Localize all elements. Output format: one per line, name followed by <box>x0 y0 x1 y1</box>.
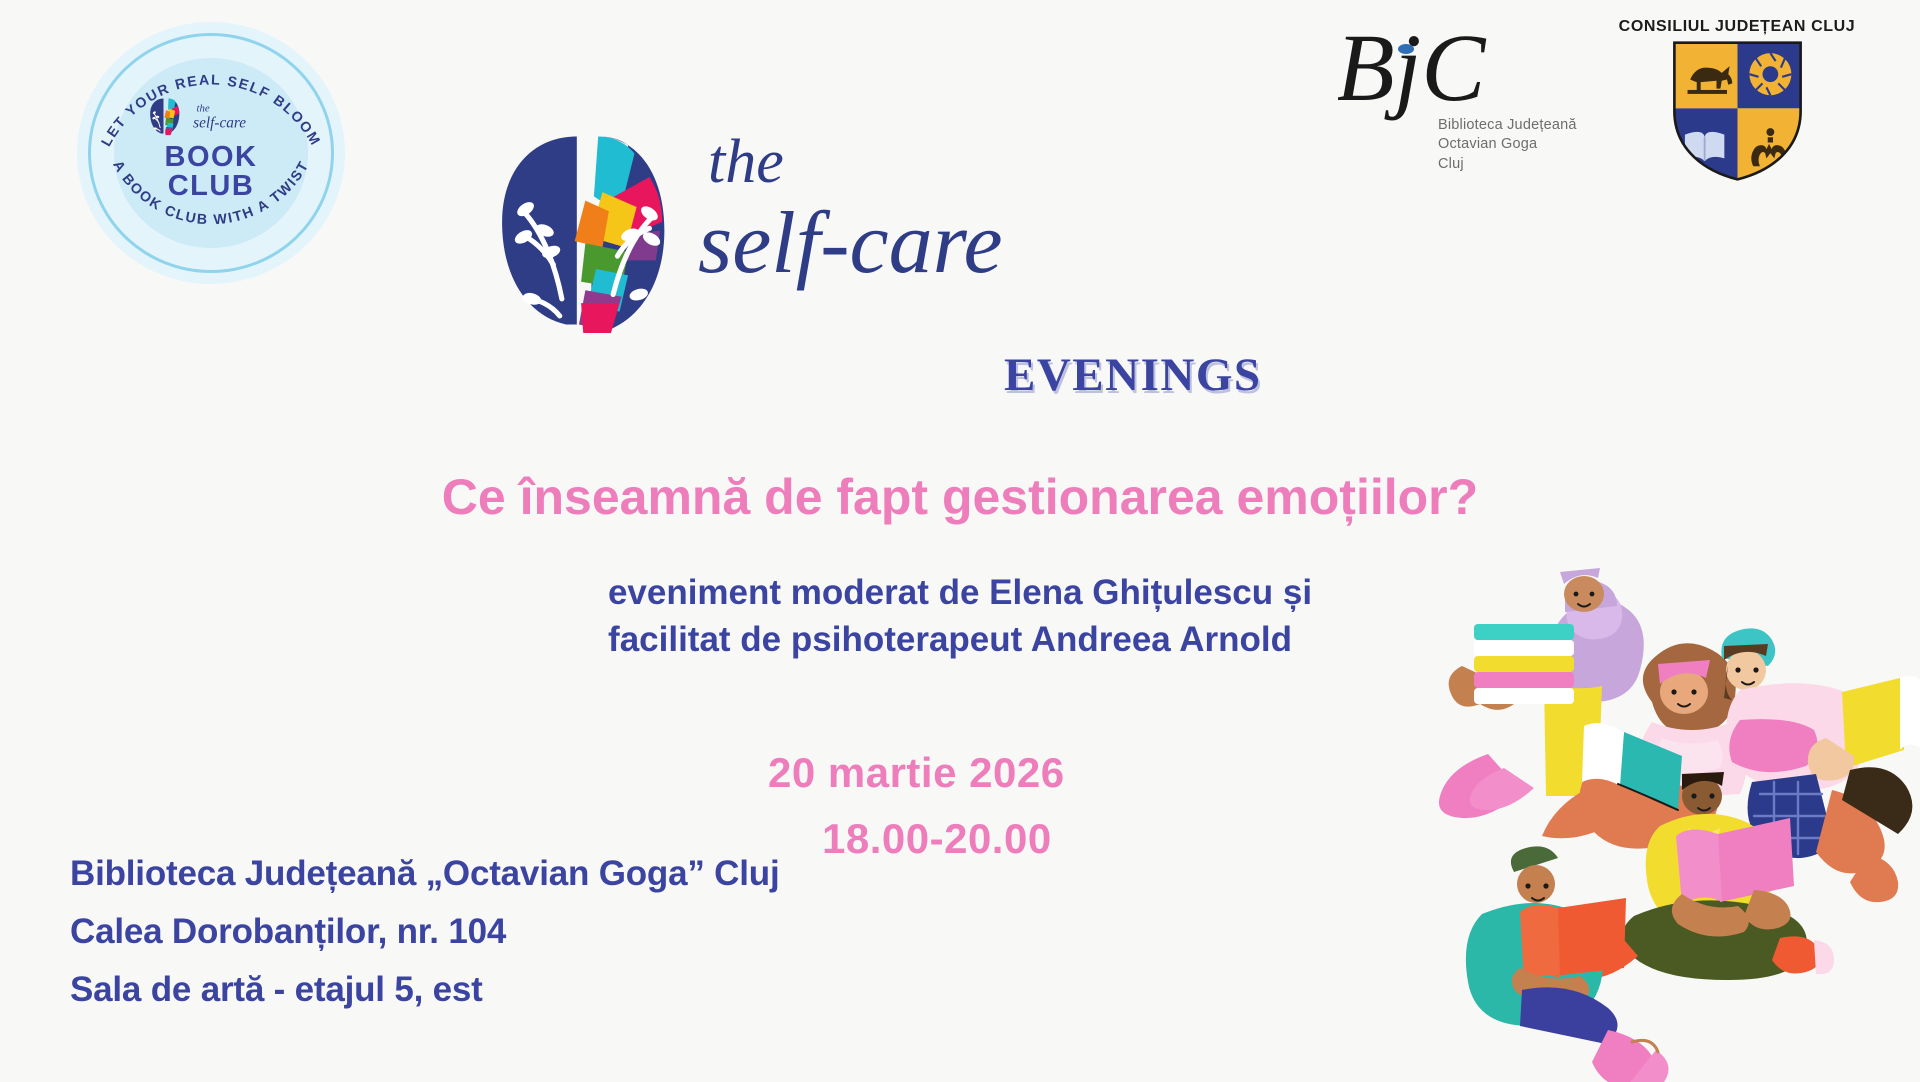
badge-book-label: BOOK <box>77 144 345 172</box>
book-club-badge: LET YOUR REAL SELF BLOOM A BOOK CLUB WIT… <box>77 22 345 284</box>
hero-script-selfcare: self-care <box>698 195 1003 292</box>
brain-icon <box>145 96 187 136</box>
badge-club-label: CLUB <box>77 172 345 201</box>
bjc-letters: BjC <box>1338 22 1486 121</box>
self-care-script-small: the self-care <box>192 99 277 133</box>
bjc-sub-line2: Octavian Goga <box>1438 135 1608 154</box>
coat-of-arms-icon <box>1671 40 1804 182</box>
county-council-logo: CONSILIUL JUDEȚEAN CLUJ <box>1606 18 1868 196</box>
venue-address: Biblioteca Județeană „Octavian Goga” Clu… <box>70 845 779 1019</box>
sun-wheel-charge <box>1749 53 1791 95</box>
badge-logo-row: the self-care <box>77 94 345 138</box>
badge-center-content: the self-care BOOK CLUB <box>77 94 345 201</box>
address-line-1: Biblioteca Județeană „Octavian Goga” Clu… <box>70 845 779 903</box>
hero-logo: the self-care <box>470 128 1090 358</box>
bjc-dot-icon <box>1398 44 1414 54</box>
event-date: 20 martie 2026 <box>760 752 1320 794</box>
self-care-script-large: the self-care <box>698 120 1088 320</box>
people-reading-books-illustration <box>1402 542 1920 1082</box>
address-line-2: Calea Dorobanților, nr. 104 <box>70 903 779 961</box>
person-in-teal-shirt <box>1466 846 1669 1082</box>
county-council-title: CONSILIUL JUDEȚEAN CLUJ <box>1606 18 1868 36</box>
bjc-sub-line3: Cluj <box>1438 155 1608 174</box>
badge-script-the: the <box>197 102 210 114</box>
event-datetime: 20 martie 2026 18.00-20.00 <box>760 752 1320 860</box>
bjc-logo: BjC Biblioteca Județeană Octavian Goga C… <box>1338 22 1588 192</box>
page-title: Ce înseamnă de fapt gestionarea emoțiilo… <box>0 468 1920 526</box>
event-time: 18.00-20.00 <box>760 818 1320 860</box>
brain-icon <box>470 128 705 333</box>
poster-canvas: LET YOUR REAL SELF BLOOM A BOOK CLUB WIT… <box>0 0 1920 1080</box>
bjc-subtitle: Biblioteca Județeană Octavian Goga Cluj <box>1438 116 1608 174</box>
badge-script-selfcare: self-care <box>193 114 246 131</box>
address-line-3: Sala de artă - etajul 5, est <box>70 961 779 1019</box>
evenings-label: EVENINGS <box>1004 348 1262 402</box>
hero-script-the: the <box>708 128 784 196</box>
bjc-sub-line1: Biblioteca Județeană <box>1438 116 1608 135</box>
